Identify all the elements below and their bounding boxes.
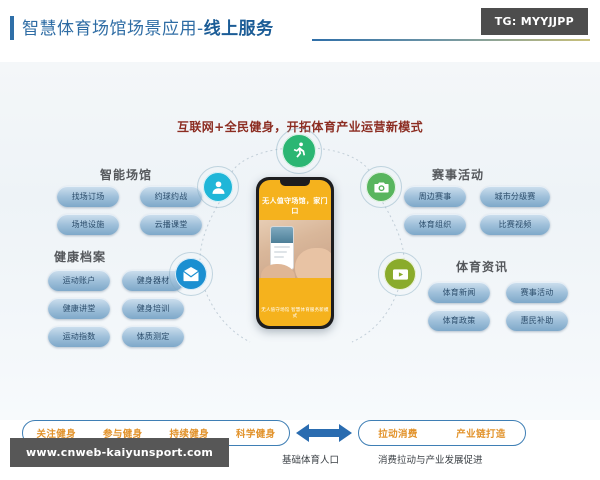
footer-url-badge: www.cnweb-kaiyunsport.com	[10, 438, 229, 467]
section-title-health: 健康档案	[54, 248, 106, 265]
pill-news-3[interactable]: 惠民补助	[506, 310, 568, 331]
pill-event-3[interactable]: 比赛视频	[480, 214, 550, 235]
header-divider-rule	[312, 39, 590, 41]
pill-event-0[interactable]: 周边赛事	[404, 186, 466, 207]
header-accent-bar	[10, 16, 14, 40]
pill-venue-1[interactable]: 约球约战	[140, 186, 202, 207]
inner-phone-banner	[271, 227, 293, 243]
page-title: 智慧体育场馆场景应用-线上服务	[22, 14, 274, 39]
slide-header: 智慧体育场馆场景应用-线上服务	[0, 12, 600, 46]
pill-news-0[interactable]: 体育新闻	[428, 282, 490, 303]
section-title-event: 赛事活动	[432, 166, 484, 183]
pill-news-1[interactable]: 赛事活动	[506, 282, 568, 303]
app-headline: 无人值守场馆，家门口	[259, 196, 331, 216]
camera-icon[interactable]	[366, 172, 396, 202]
play-icon[interactable]	[384, 258, 416, 290]
section-title-venue: 智能场馆	[100, 166, 152, 183]
inner-phone-line	[274, 256, 284, 258]
slide-page: TG: MYYJJPP 智慧体育场馆场景应用-线上服务 互联网+全民健身，开拓体…	[0, 0, 600, 480]
app-photo	[259, 220, 331, 278]
pill-health-4[interactable]: 运动指数	[48, 326, 110, 347]
envelope-icon[interactable]	[175, 258, 207, 290]
pill-health-3[interactable]: 健身培训	[122, 298, 184, 319]
pill-health-2[interactable]: 健康讲堂	[48, 298, 110, 319]
bottom-bar-right: 拉动消费 产业链打造	[358, 420, 526, 446]
pill-venue-3[interactable]: 云播课堂	[140, 214, 202, 235]
pill-news-2[interactable]: 体育政策	[428, 310, 490, 331]
phone-screen: 无人值守场馆，家门口 无人值守场馆 智慧体育服务新模式	[259, 180, 331, 326]
page-title-main: 智慧体育场馆场景应用-	[22, 19, 204, 39]
bottom-right-item-0[interactable]: 拉动消费	[378, 426, 418, 440]
section-title-news: 体育资讯	[456, 258, 508, 275]
bottom-left-item-3[interactable]: 科学健身	[236, 426, 276, 440]
bottom-caption-2: 消费拉动与产业发展促进	[378, 452, 483, 466]
phone-notch	[280, 180, 310, 186]
slide-body: 互联网+全民健身，开拓体育产业运营新模式 智能场馆 健康档案 赛事活动 体育资讯…	[0, 62, 600, 420]
bottom-caption-1: 基础体育人口	[282, 452, 339, 466]
pill-venue-0[interactable]: 找场订场	[57, 186, 119, 207]
pill-health-5[interactable]: 体质测定	[122, 326, 184, 347]
pill-venue-2[interactable]: 场地设施	[57, 214, 119, 235]
person-icon[interactable]	[203, 172, 233, 202]
double-arrow-icon	[296, 424, 352, 442]
hand-graphic	[295, 248, 331, 278]
bottom-right-item-1[interactable]: 产业链打造	[456, 426, 506, 440]
app-footline: 无人值守场馆 智慧体育服务新模式	[259, 307, 331, 319]
pill-health-0[interactable]: 运动账户	[48, 270, 110, 291]
inner-phone-line	[274, 251, 287, 253]
pill-event-1[interactable]: 城市分级赛	[480, 186, 550, 207]
inner-phone-line	[274, 246, 290, 248]
running-person-icon[interactable]	[282, 134, 316, 168]
page-title-strong: 线上服务	[204, 19, 274, 39]
phone-mockup: 无人值守场馆，家门口 无人值守场馆 智慧体育服务新模式	[256, 177, 334, 329]
pill-event-2[interactable]: 体育组织	[404, 214, 466, 235]
